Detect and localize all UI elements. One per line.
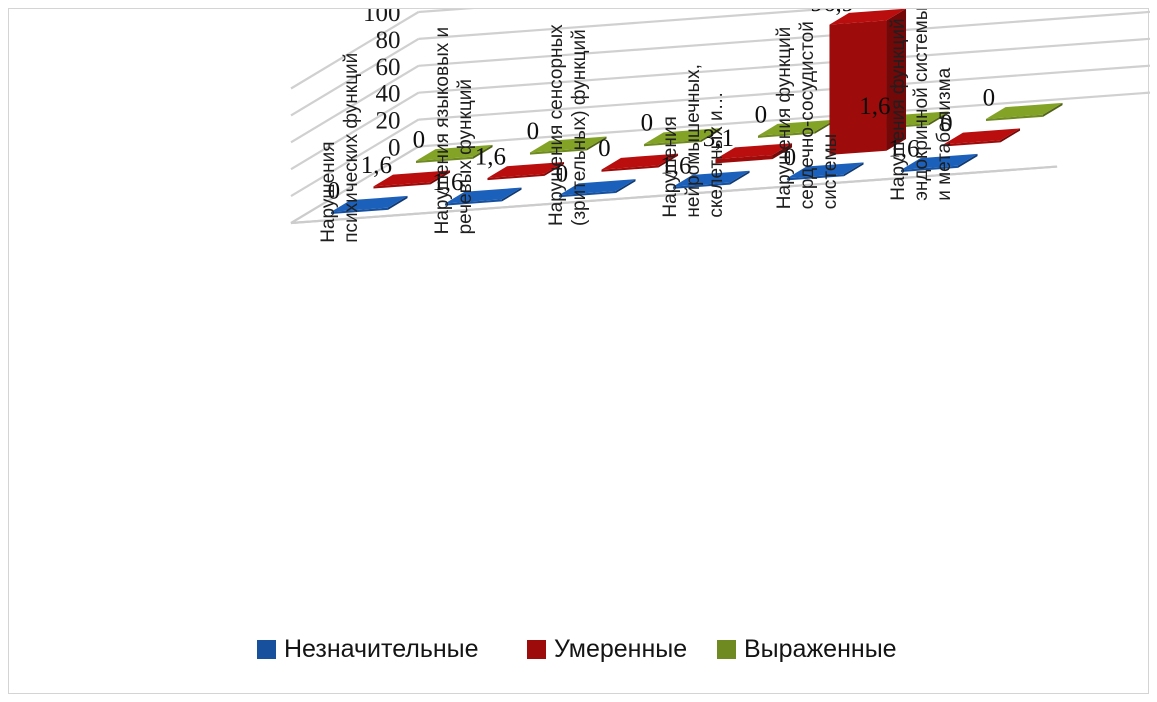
y-axis-tick-100: 100 — [363, 9, 401, 27]
legend-label-2: Выраженные — [744, 635, 897, 663]
legend-group: НезначительныеУмеренныеВыраженные — [257, 635, 897, 663]
y-axis-tick-0: 0 — [388, 135, 401, 162]
category-label-line: (зрительных) функций — [569, 29, 590, 226]
y-axis-tick-20: 20 — [376, 108, 401, 135]
value-label-2-0: 0 — [413, 127, 426, 154]
bar-chart-3d: 00001,601,61,603,196,9001,601,601,610080… — [9, 9, 1150, 695]
value-label-1-4: 96,9 — [811, 9, 855, 17]
bar-2-5[interactable] — [986, 103, 1063, 121]
category-label-line: Нарушения функций — [774, 27, 795, 209]
category-label-line: речевых функций — [455, 79, 476, 234]
category-label-line: системы — [820, 134, 841, 209]
category-label-line: сердечно-сосудистой — [797, 21, 818, 209]
legend-label-0: Незначительные — [284, 635, 479, 663]
category-label-line: и метаболизма — [934, 67, 955, 200]
y-axis-tick-40: 40 — [376, 81, 401, 108]
value-label-1-2: 0 — [598, 135, 611, 162]
value-label-2-5: 0 — [983, 85, 996, 112]
category-label-line: нейромышечных, — [683, 64, 704, 218]
category-label-line: Нарушения — [318, 141, 339, 242]
y-axis-tick-60: 60 — [376, 54, 401, 81]
category-label-0: Нарушенияпсихических функций — [318, 53, 362, 243]
value-label-2-3: 0 — [755, 101, 768, 128]
value-label-2-4: 1,6 — [859, 93, 890, 120]
category-label-line: Нарушения функций — [888, 18, 909, 200]
value-label-2-2: 0 — [641, 110, 654, 137]
legend-swatch-0 — [257, 640, 276, 659]
category-label-line: психических функций — [341, 53, 362, 243]
category-label-line: эндокринной системы — [911, 9, 932, 201]
y-axis-tick-80: 80 — [376, 27, 401, 54]
category-label-5: Нарушения функцийэндокринной системыи ме… — [888, 9, 955, 201]
value-label-2-1: 0 — [527, 118, 540, 145]
value-label-1-1: 1,6 — [475, 144, 506, 171]
category-label-line: Нарушения сенсорных — [546, 24, 567, 226]
legend-swatch-2 — [717, 640, 736, 659]
chart-plot-area: 00001,601,61,603,196,9001,601,601,610080… — [9, 9, 1150, 695]
legend-label-1: Умеренные — [554, 635, 687, 663]
category-label-3: Нарушениянейромышечных,скелетных и… — [660, 64, 727, 218]
category-label-line: Нарушения языковых и — [432, 27, 453, 235]
legend-swatch-1 — [527, 640, 546, 659]
category-label-line: скелетных и… — [706, 91, 727, 217]
y-axis-group: 100806040200 — [363, 9, 401, 162]
chart-frame: 00001,601,61,603,196,9001,601,601,610080… — [8, 8, 1149, 694]
category-label-line: Нарушения — [660, 116, 681, 217]
